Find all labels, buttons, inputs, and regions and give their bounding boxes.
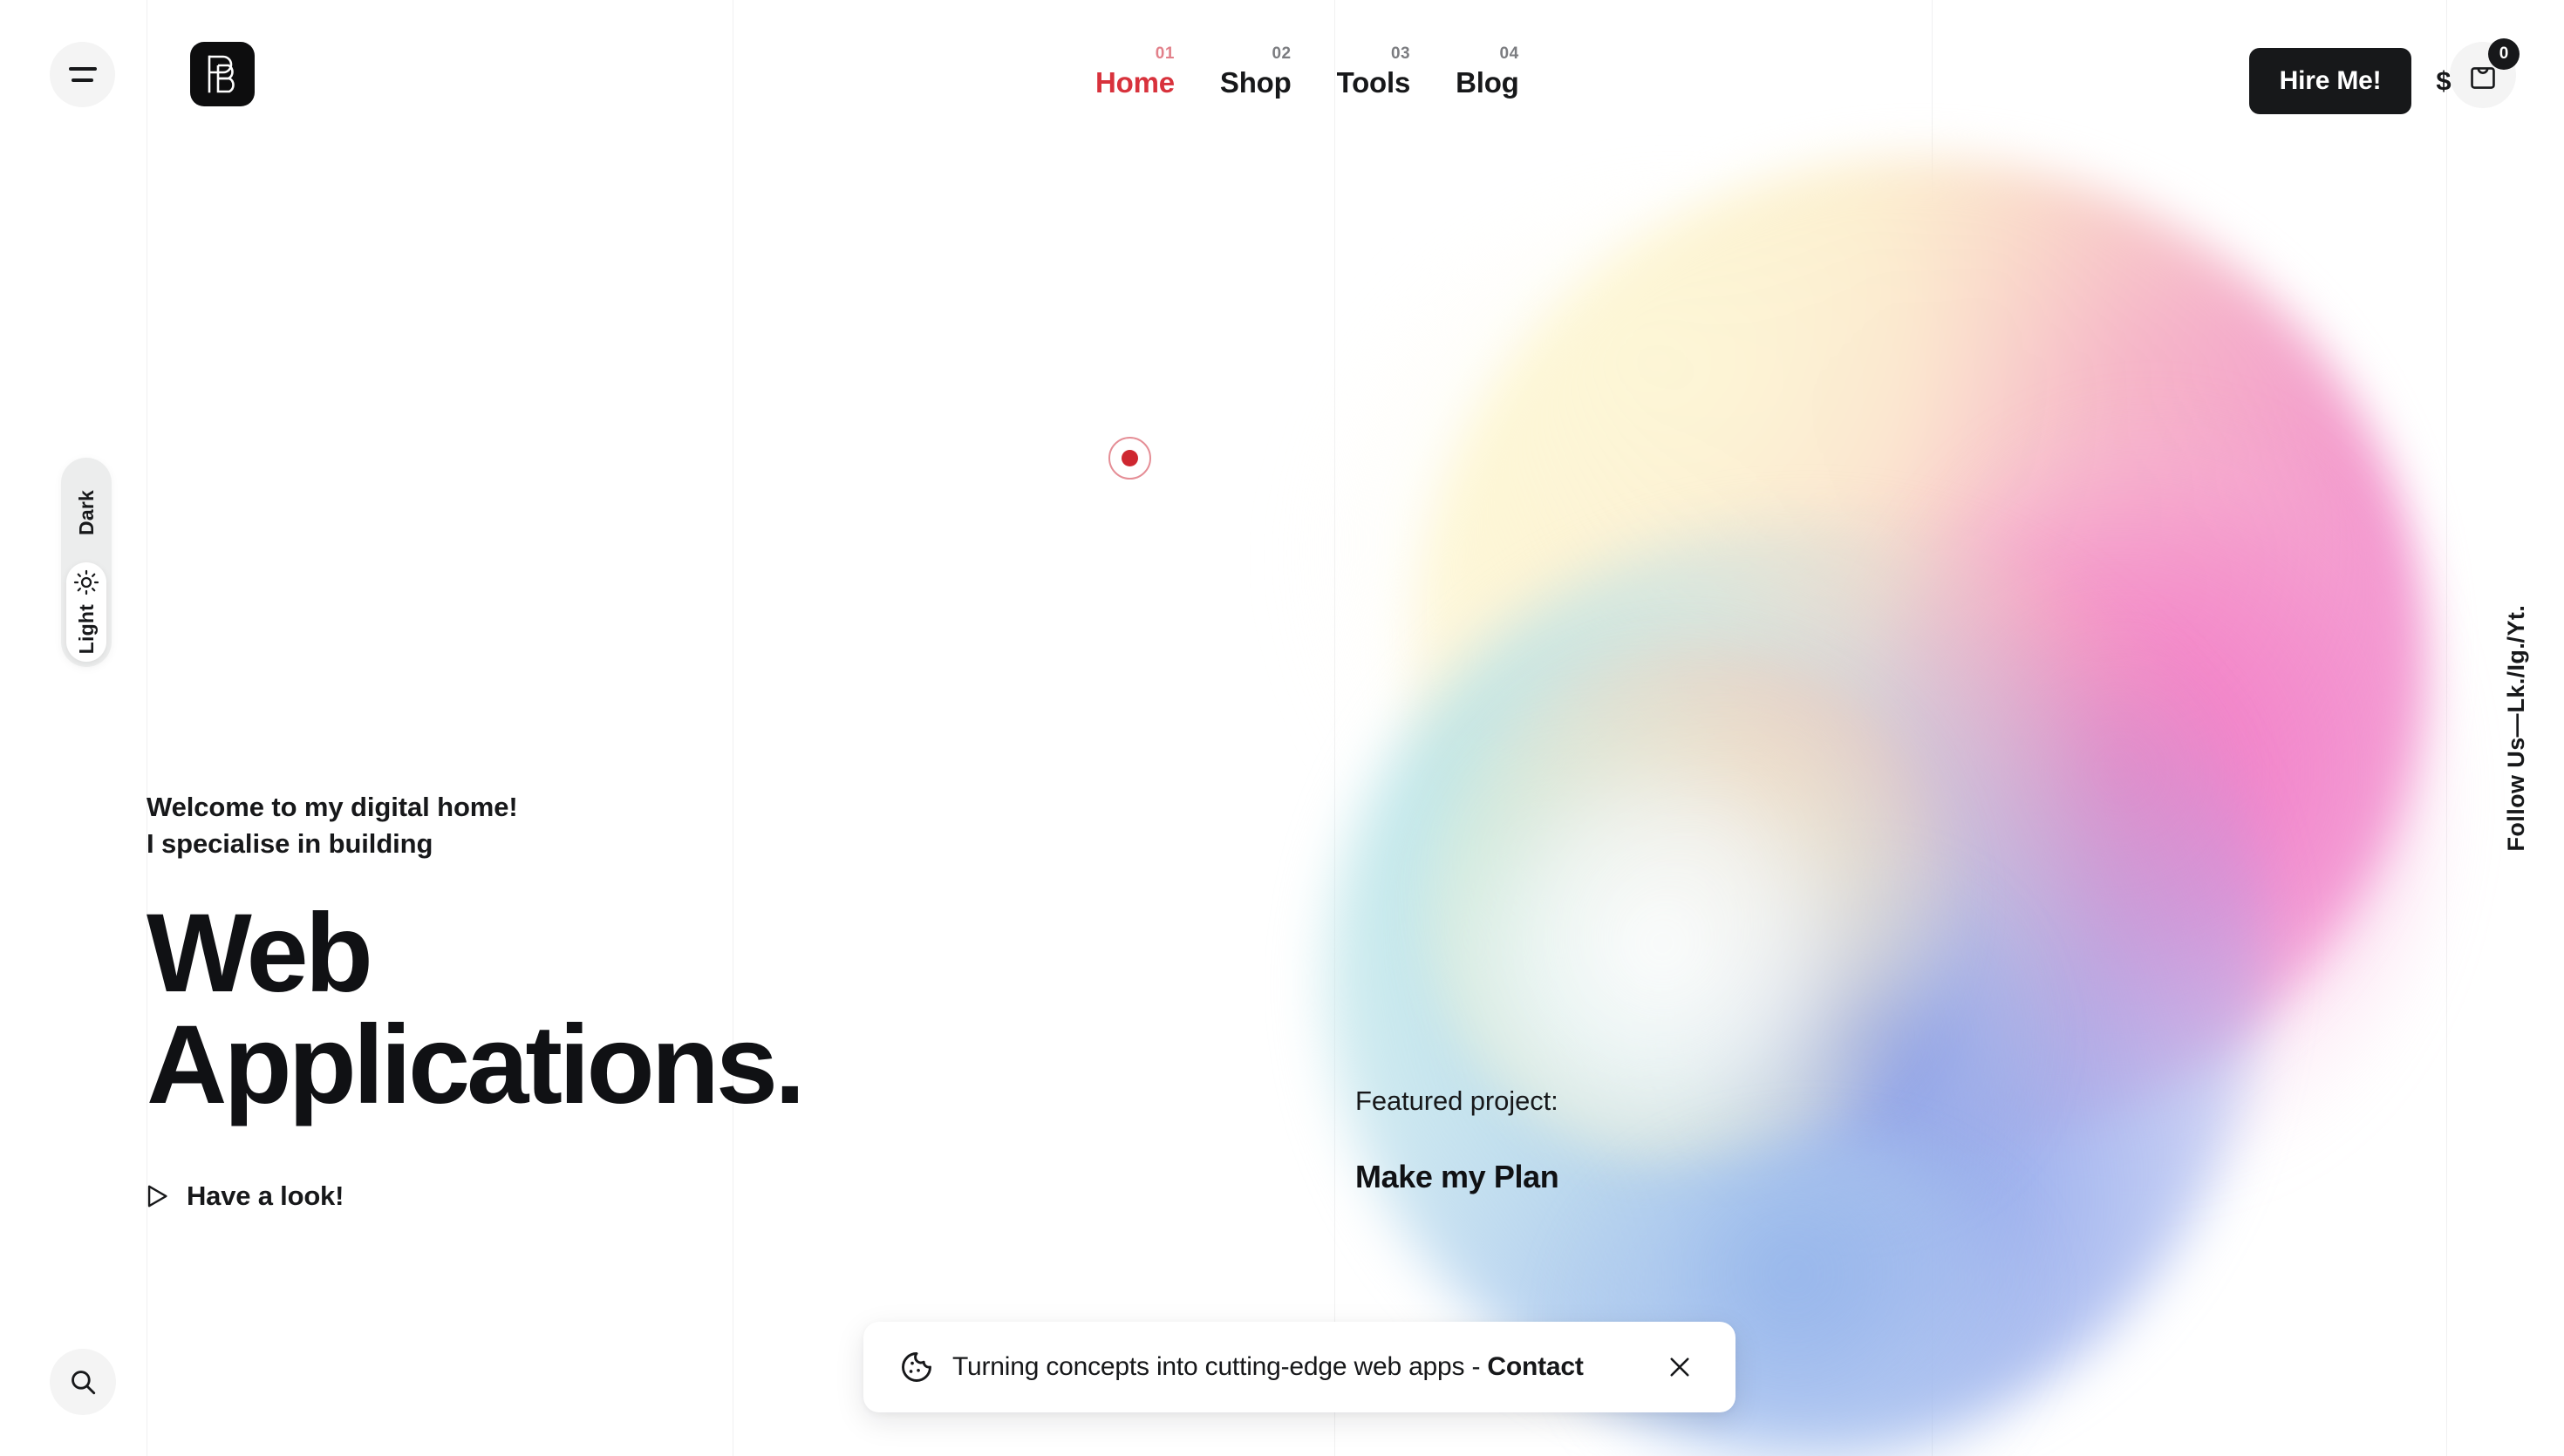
follow-us-label: Follow Us [2503, 737, 2530, 851]
custom-cursor-dot [1108, 437, 1151, 480]
search-button[interactable] [50, 1349, 116, 1415]
theme-light-label: Light [75, 604, 99, 654]
site-header: 01 Home 02 Shop 03 Tools 04 Blog Hire Me… [0, 0, 2564, 162]
pb-monogram-icon [206, 55, 239, 93]
nav-item-home[interactable]: 01 Home [1073, 45, 1197, 99]
site-logo[interactable] [190, 42, 255, 106]
featured-project: Featured project: Make my Plan [1334, 1085, 1558, 1195]
hero-title: Web Applications. [147, 898, 802, 1121]
hero-gradient-artwork [1308, 157, 2459, 1456]
close-icon [1667, 1354, 1693, 1380]
nav-label: Home [1095, 68, 1175, 99]
nav-item-tools[interactable]: 03 Tools [1314, 45, 1434, 99]
follow-us-rail: Follow Us — Lk. / Ig. / Yt. [2486, 605, 2547, 852]
cursor-inner-dot [1122, 450, 1138, 466]
hero-title-line-1: Web [147, 898, 802, 1010]
header-actions: Hire Me! $0.00 0 [2249, 0, 2564, 162]
play-triangle-icon [147, 1184, 169, 1208]
social-link-youtube[interactable]: Yt. [2503, 605, 2530, 636]
follow-separator-2: / [2494, 636, 2539, 643]
cookie-message: Turning concepts into cutting-edge web a… [952, 1352, 1584, 1382]
cookie-contact-link[interactable]: Contact [1487, 1352, 1583, 1381]
cookie-close-button[interactable] [1660, 1348, 1699, 1386]
have-a-look-button[interactable]: Have a look! [147, 1180, 344, 1212]
hamburger-icon [69, 67, 97, 71]
cookie-banner: Turning concepts into cutting-edge web a… [863, 1322, 1735, 1412]
cart-button[interactable]: 0 [2450, 42, 2516, 108]
search-icon [68, 1367, 98, 1397]
follow-dash: — [2494, 713, 2539, 737]
cookie-message-text: Turning concepts into cutting-edge web a… [952, 1352, 1487, 1381]
nav-label: Blog [1456, 68, 1519, 99]
nav-item-blog[interactable]: 04 Blog [1433, 45, 1542, 99]
main-navigation: 01 Home 02 Shop 03 Tools 04 Blog [1073, 45, 1542, 99]
background-grid [0, 0, 2564, 1456]
theme-dark-label: Dark [75, 490, 99, 535]
hero-intro-line-1: Welcome to my digital home! [147, 789, 802, 826]
nav-number: 01 [1095, 45, 1175, 62]
nav-number: 03 [1337, 45, 1411, 62]
nav-number: 04 [1456, 45, 1519, 62]
cart-count-badge: 0 [2488, 38, 2520, 70]
featured-project-name[interactable]: Make my Plan [1355, 1159, 1558, 1195]
theme-option-dark[interactable]: Dark [66, 463, 106, 562]
cookie-icon [900, 1351, 933, 1384]
hire-me-button[interactable]: Hire Me! [2249, 48, 2412, 114]
featured-project-label: Featured project: [1355, 1085, 1558, 1117]
nav-label: Tools [1337, 68, 1411, 99]
theme-toggle[interactable]: Dark Light [61, 458, 112, 667]
hero-cta-label: Have a look! [187, 1180, 344, 1212]
hamburger-menu-button[interactable] [50, 42, 115, 107]
sun-icon [73, 569, 99, 595]
hero-title-line-2: Applications. [147, 1010, 802, 1121]
social-link-linkedin[interactable]: Lk. [2503, 678, 2530, 713]
page-root: 01 Home 02 Shop 03 Tools 04 Blog Hire Me… [0, 0, 2564, 1456]
nav-item-shop[interactable]: 02 Shop [1197, 45, 1314, 99]
hero-section: Welcome to my digital home! I specialise… [147, 789, 802, 1213]
hero-intro: Welcome to my digital home! I specialise… [147, 789, 802, 861]
follow-separator-1: / [2494, 671, 2539, 678]
nav-label: Shop [1220, 68, 1292, 99]
hero-intro-line-2: I specialise in building [147, 826, 802, 862]
social-link-instagram[interactable]: Ig. [2503, 643, 2530, 671]
nav-number: 02 [1220, 45, 1292, 62]
theme-option-light[interactable]: Light [66, 562, 106, 662]
